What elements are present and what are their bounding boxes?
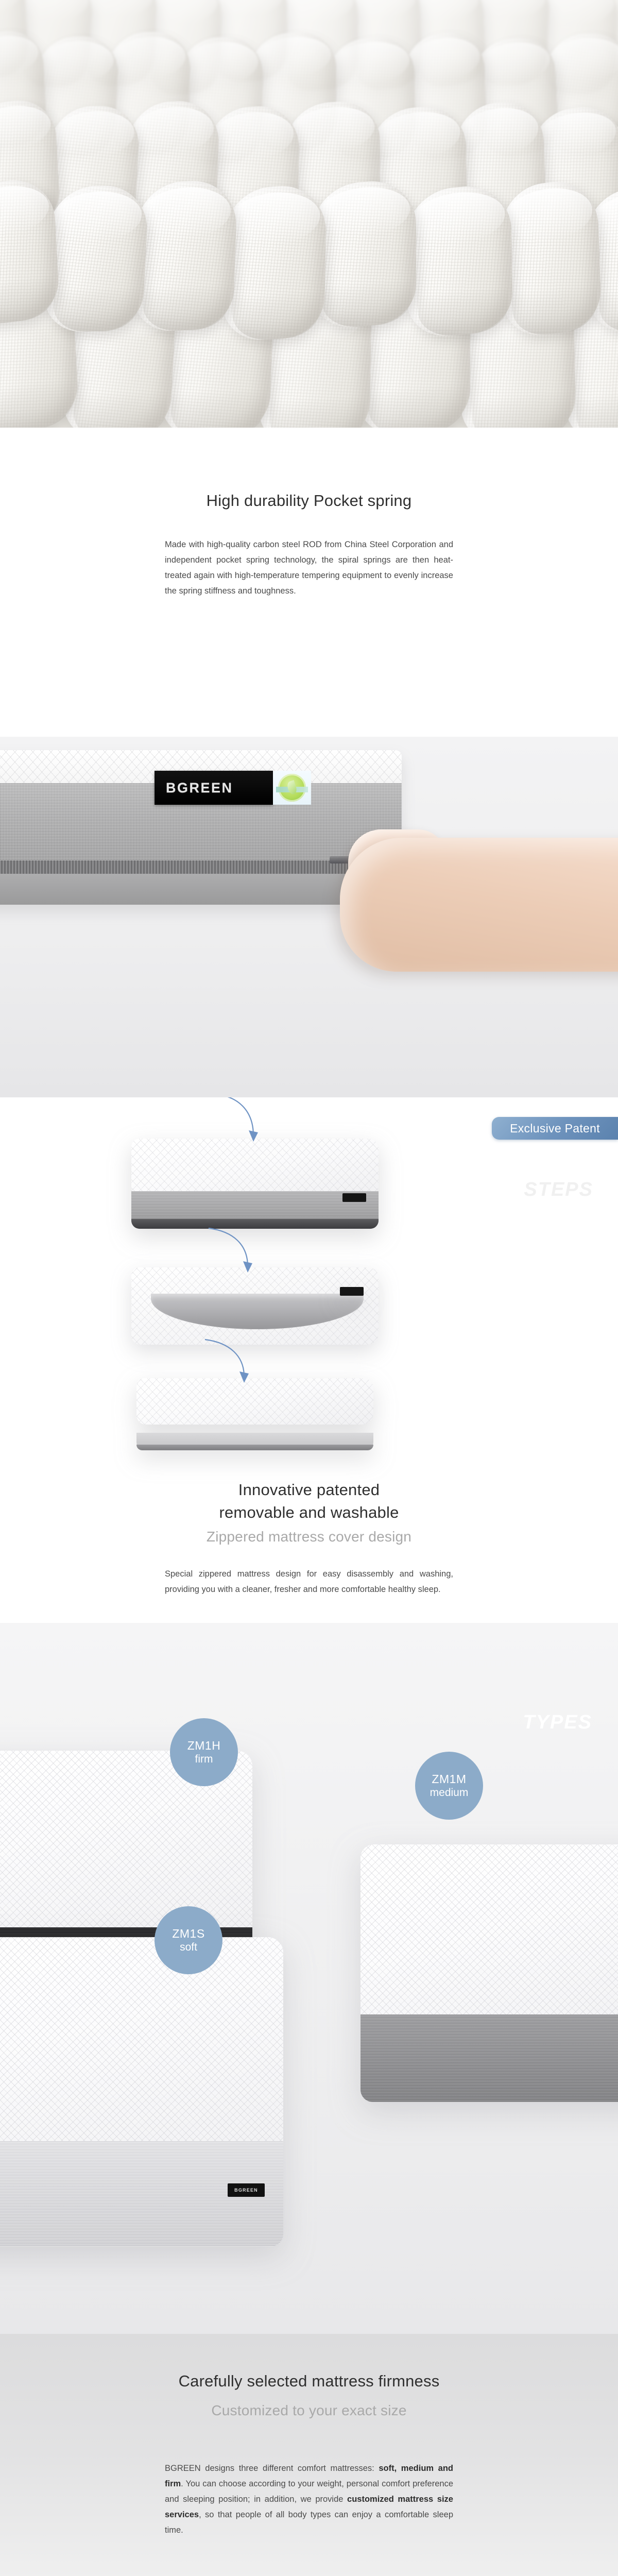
plain-text: , so that people of all body types can e…: [165, 2510, 453, 2535]
pocket-spring-hero-photo: [0, 0, 618, 428]
layer-brand-tag: [342, 1193, 366, 1202]
greenfibre-eco-badge: [273, 771, 311, 805]
steps-watermark: STEPS: [524, 1179, 593, 1201]
pocket-spring-paragraph: Made with high-quality carbon steel ROD …: [165, 537, 453, 599]
layer-mattress-with-cover: [131, 1139, 379, 1229]
badge-zm1h: ZM1H firm: [170, 1718, 238, 1786]
flow-arrow-down-1: [206, 1097, 288, 1149]
badge-zm1s-code: ZM1S: [172, 1926, 204, 1941]
zipper-paragraph: Special zippered mattress design for eas…: [165, 1566, 453, 1597]
zm1s-top: [0, 1937, 283, 2160]
firmness-subheading: Customized to your exact size: [0, 2400, 618, 2421]
mattress-types-section: TYPES BGREEN ZM1H firm BGREEN ZM1M mediu…: [0, 1623, 618, 2334]
zipper-heading-line1: Innovative patented: [0, 1479, 618, 1501]
zm1s-brand-text: BGREEN: [234, 2188, 258, 2193]
foam-lip: [136, 1445, 373, 1450]
badge-zm1m: ZM1M medium: [415, 1752, 483, 1820]
pocket-spring: [132, 179, 238, 332]
badge-zm1s: ZM1S soft: [154, 1906, 222, 1974]
pocket-spring: [499, 177, 602, 339]
zipper-subheading: Zippered mattress cover design: [0, 1526, 618, 1548]
badge-zm1m-level: medium: [430, 1786, 469, 1800]
eco-circle-icon: [278, 774, 306, 802]
exclusive-patent-badge: Exclusive Patent: [492, 1117, 618, 1140]
steps-exploded-diagram-section: Exclusive Patent STEPS Innovative patent…: [0, 1097, 618, 1623]
pocket-spring: [43, 184, 149, 332]
badge-zm1m-code: ZM1M: [432, 1772, 466, 1786]
pocket-spring: [221, 183, 327, 342]
firmness-text-section: Carefully selected mattress firmness Cus…: [0, 2334, 618, 2576]
plain-text: BGREEN designs three different comfort m…: [165, 2464, 379, 2473]
hand-photo: [340, 838, 618, 972]
flow-arrow-down-3: [201, 1338, 278, 1390]
firmness-paragraph: BGREEN designs three different comfort m…: [165, 2461, 453, 2538]
zm1m-base: [360, 2014, 618, 2102]
flow-arrow-down-2: [203, 1227, 281, 1279]
bgreen-brand-label: BGREEN: [154, 771, 273, 805]
types-watermark: TYPES: [523, 1711, 592, 1734]
spring-row: [0, 185, 618, 339]
firmness-heading: Carefully selected mattress firmness: [0, 2334, 618, 2393]
layer-2-brand-tag-area: [330, 1279, 367, 1299]
pocket-spring: [405, 182, 513, 340]
cover-brand-tag: [340, 1287, 364, 1296]
pocket-spring: [312, 178, 416, 330]
badge-zm1h-code: ZM1H: [187, 1738, 221, 1753]
brand-label-text: BGREEN: [166, 780, 233, 796]
leaf-icon: [286, 780, 298, 795]
badge-zm1s-level: soft: [180, 1941, 197, 1954]
patent-badge-label: Exclusive Patent: [510, 1122, 600, 1136]
zipper-cover-photo: BGREEN: [0, 737, 618, 1097]
mattress-zm1m: BGREEN: [360, 1844, 618, 2102]
zipper-heading-line2: removable and washable: [0, 1501, 618, 1524]
badge-zm1h-level: firm: [195, 1753, 213, 1766]
zm1m-top: [360, 1844, 618, 2030]
pocket-spring-heading: High durability Pocket spring: [0, 428, 618, 512]
pocket-spring-text-section: High durability Pocket spring Made with …: [0, 428, 618, 737]
zm1s-brand-tag: BGREEN: [228, 2183, 265, 2197]
mattress-zm1s: BGREEN: [0, 1937, 283, 2246]
